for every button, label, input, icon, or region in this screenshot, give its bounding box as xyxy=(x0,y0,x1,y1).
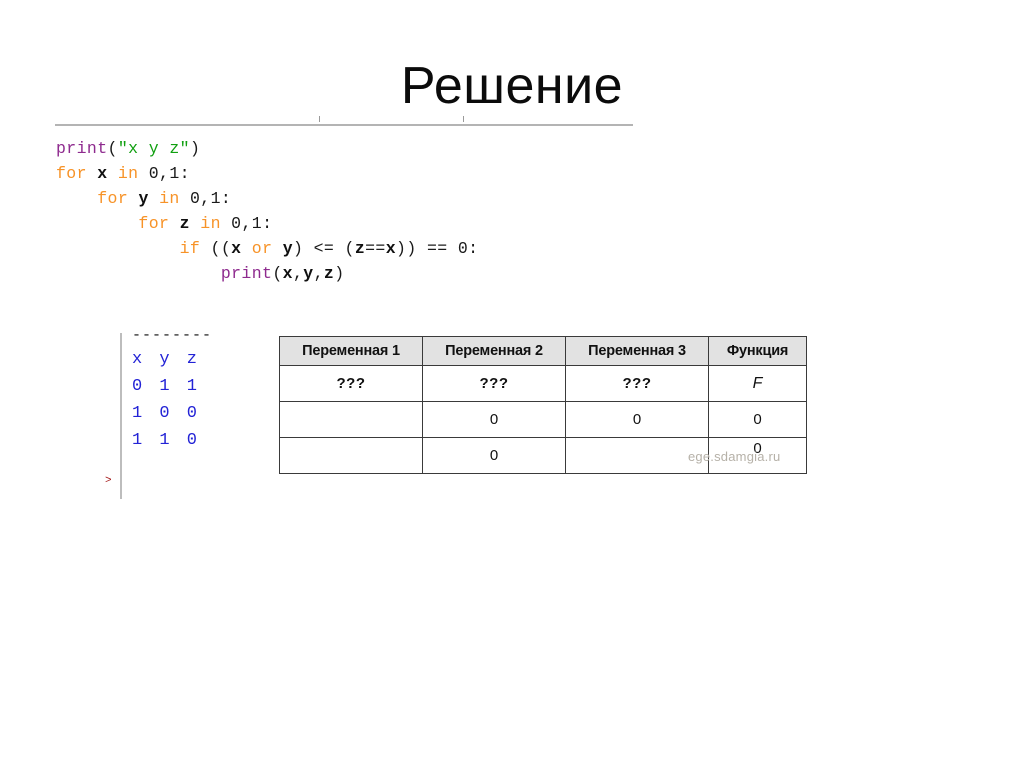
code-token-pl xyxy=(190,214,200,233)
ruler-separator xyxy=(55,122,633,126)
table-cell: F xyxy=(709,366,807,402)
code-token-var: x xyxy=(97,164,107,183)
truth-table: Переменная 1 Переменная 2 Переменная 3 Ф… xyxy=(279,336,807,474)
console-line: x y z xyxy=(132,346,212,373)
code-token-pl xyxy=(56,264,221,283)
code-token-var: z xyxy=(324,264,334,283)
table-cell xyxy=(280,438,423,474)
code-token-pl: , xyxy=(293,264,303,283)
code-token-pl: (( xyxy=(200,239,231,258)
code-token-pl: 0,1: xyxy=(180,189,232,208)
console-output-lines: --------x y z0 1 11 0 01 1 0 xyxy=(132,326,212,454)
code-token-pl xyxy=(241,239,251,258)
code-token-var: y xyxy=(138,189,148,208)
code-token-pl xyxy=(56,214,138,233)
code-token-pl: ( xyxy=(108,139,118,158)
code-line: print(x,y,z) xyxy=(56,261,478,286)
console-prompt-caret: > xyxy=(105,476,112,487)
ruler-line xyxy=(55,124,633,126)
code-token-pl xyxy=(272,239,282,258)
page-title: Решение xyxy=(0,60,1024,112)
code-token-pl xyxy=(149,189,159,208)
table-header-cell: Переменная 1 xyxy=(280,337,423,366)
table-cell: 0 xyxy=(566,402,709,438)
code-token-pl: 0,1: xyxy=(221,214,273,233)
table-cell: ??? xyxy=(566,366,709,402)
code-token-fn: print xyxy=(56,139,108,158)
table-cell: 0 xyxy=(709,402,807,438)
table-row: ?????????F xyxy=(280,366,807,402)
table-row: 000 xyxy=(280,402,807,438)
code-block: print("x y z")for x in 0,1: for y in 0,1… xyxy=(56,136,478,286)
code-token-pl xyxy=(108,164,118,183)
table-header-row: Переменная 1 Переменная 2 Переменная 3 Ф… xyxy=(280,337,807,366)
truth-table-head: Переменная 1 Переменная 2 Переменная 3 Ф… xyxy=(280,337,807,366)
code-token-pl: 0,1: xyxy=(138,164,190,183)
table-cell-value: 0 xyxy=(753,440,761,457)
table-header-cell: Функция xyxy=(709,337,807,366)
truth-table-body: ?????????F00000 xyxy=(280,366,807,474)
code-token-var: x xyxy=(231,239,241,258)
table-cell: 0 xyxy=(709,438,807,474)
console-line: 0 1 1 xyxy=(132,373,212,400)
code-token-pl: == xyxy=(365,239,386,258)
console-line: 1 0 0 xyxy=(132,400,212,427)
code-token-kw: for xyxy=(138,214,179,233)
table-header-cell: Переменная 3 xyxy=(566,337,709,366)
code-token-pl: , xyxy=(314,264,324,283)
code-token-var: x xyxy=(283,264,293,283)
code-line: for z in 0,1: xyxy=(56,211,478,236)
code-token-kw: for xyxy=(56,164,97,183)
ruler-tick-mark xyxy=(319,116,320,122)
table-cell: ??? xyxy=(280,366,423,402)
code-token-pl xyxy=(56,189,97,208)
code-token-var: y xyxy=(283,239,293,258)
console-output-panel: > --------x y z0 1 11 0 01 1 0 xyxy=(104,326,274,498)
code-token-kw: in xyxy=(200,214,221,233)
code-token-kw: for xyxy=(97,189,138,208)
code-token-pl: )) == 0: xyxy=(396,239,478,258)
ruler-tick-mark xyxy=(463,116,464,122)
table-cell: 0 xyxy=(423,438,566,474)
code-token-pl: ) <= ( xyxy=(293,239,355,258)
code-token-var: z xyxy=(180,214,190,233)
table-cell: 0 xyxy=(423,402,566,438)
table-cell xyxy=(566,438,709,474)
table-row: 00 xyxy=(280,438,807,474)
table-header-cell: Переменная 2 xyxy=(423,337,566,366)
code-line: if ((x or y) <= (z==x)) == 0: xyxy=(56,236,478,261)
code-line: for y in 0,1: xyxy=(56,186,478,211)
code-token-kw: or xyxy=(252,239,273,258)
code-token-kw: in xyxy=(159,189,180,208)
code-token-var: x xyxy=(386,239,396,258)
console-separator: -------- xyxy=(132,326,212,346)
code-line: print("x y z") xyxy=(56,136,478,161)
code-token-pl: ( xyxy=(272,264,282,283)
code-token-var: z xyxy=(355,239,365,258)
code-token-str: "x y z" xyxy=(118,139,190,158)
code-token-pl: ) xyxy=(190,139,200,158)
code-token-pl xyxy=(56,239,180,258)
code-token-kw: if xyxy=(180,239,201,258)
code-token-var: y xyxy=(303,264,313,283)
code-line: for x in 0,1: xyxy=(56,161,478,186)
code-token-kw: in xyxy=(118,164,139,183)
console-gutter-rule xyxy=(120,333,122,499)
code-token-pl: ) xyxy=(334,264,344,283)
code-token-fn: print xyxy=(221,264,273,283)
table-cell: ??? xyxy=(423,366,566,402)
console-line: 1 1 0 xyxy=(132,427,212,454)
truth-table-container: Переменная 1 Переменная 2 Переменная 3 Ф… xyxy=(279,336,806,474)
table-cell xyxy=(280,402,423,438)
